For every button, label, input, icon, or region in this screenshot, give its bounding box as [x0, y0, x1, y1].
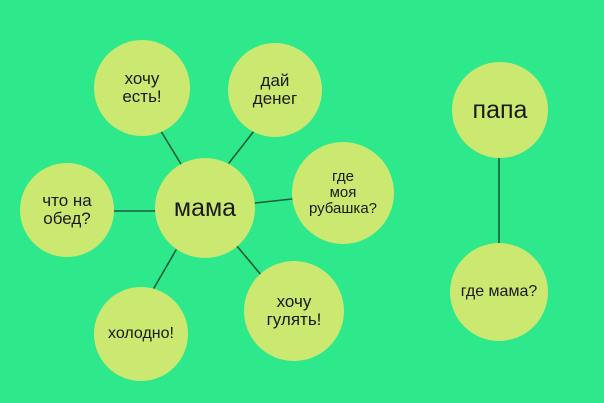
- mindmap-canvas: мамахочу есть!дай денеггде моя рубашка?х…: [0, 0, 604, 403]
- edge-mama-to-gde-moya-rubashka: [255, 199, 292, 203]
- node-label-gde-moya-rubashka: где моя рубашка?: [307, 169, 379, 218]
- node-day-deneg[interactable]: дай денег: [228, 43, 322, 137]
- node-papa[interactable]: папа: [452, 62, 548, 158]
- node-mama[interactable]: мама: [155, 158, 255, 258]
- node-label-day-deneg: дай денег: [251, 72, 299, 109]
- node-label-holodno: холодно!: [106, 325, 176, 342]
- node-label-mama: мама: [172, 195, 238, 222]
- node-label-chto-na-obed: что на обед?: [40, 192, 93, 229]
- node-hochu-gulyat[interactable]: хочу гулять!: [244, 261, 344, 361]
- node-gde-moya-rubashka[interactable]: где моя рубашка?: [292, 142, 394, 244]
- edge-mama-to-hochu-gulyat: [236, 245, 262, 276]
- edge-mama-to-holodno: [154, 250, 176, 288]
- node-chto-na-obed[interactable]: что на обед?: [20, 163, 114, 257]
- node-gde-mama[interactable]: где мама?: [450, 243, 548, 341]
- edge-mama-to-day-deneg: [229, 131, 254, 163]
- node-hochu-est[interactable]: хочу есть!: [94, 40, 190, 136]
- node-holodno[interactable]: холодно!: [94, 287, 188, 381]
- node-label-papa: папа: [471, 97, 530, 124]
- node-label-gde-mama: где мама?: [459, 283, 540, 300]
- node-label-hochu-est: хочу есть!: [120, 70, 163, 107]
- node-label-hochu-gulyat: хочу гулять!: [265, 293, 324, 330]
- edge-mama-to-hochu-est: [159, 128, 181, 164]
